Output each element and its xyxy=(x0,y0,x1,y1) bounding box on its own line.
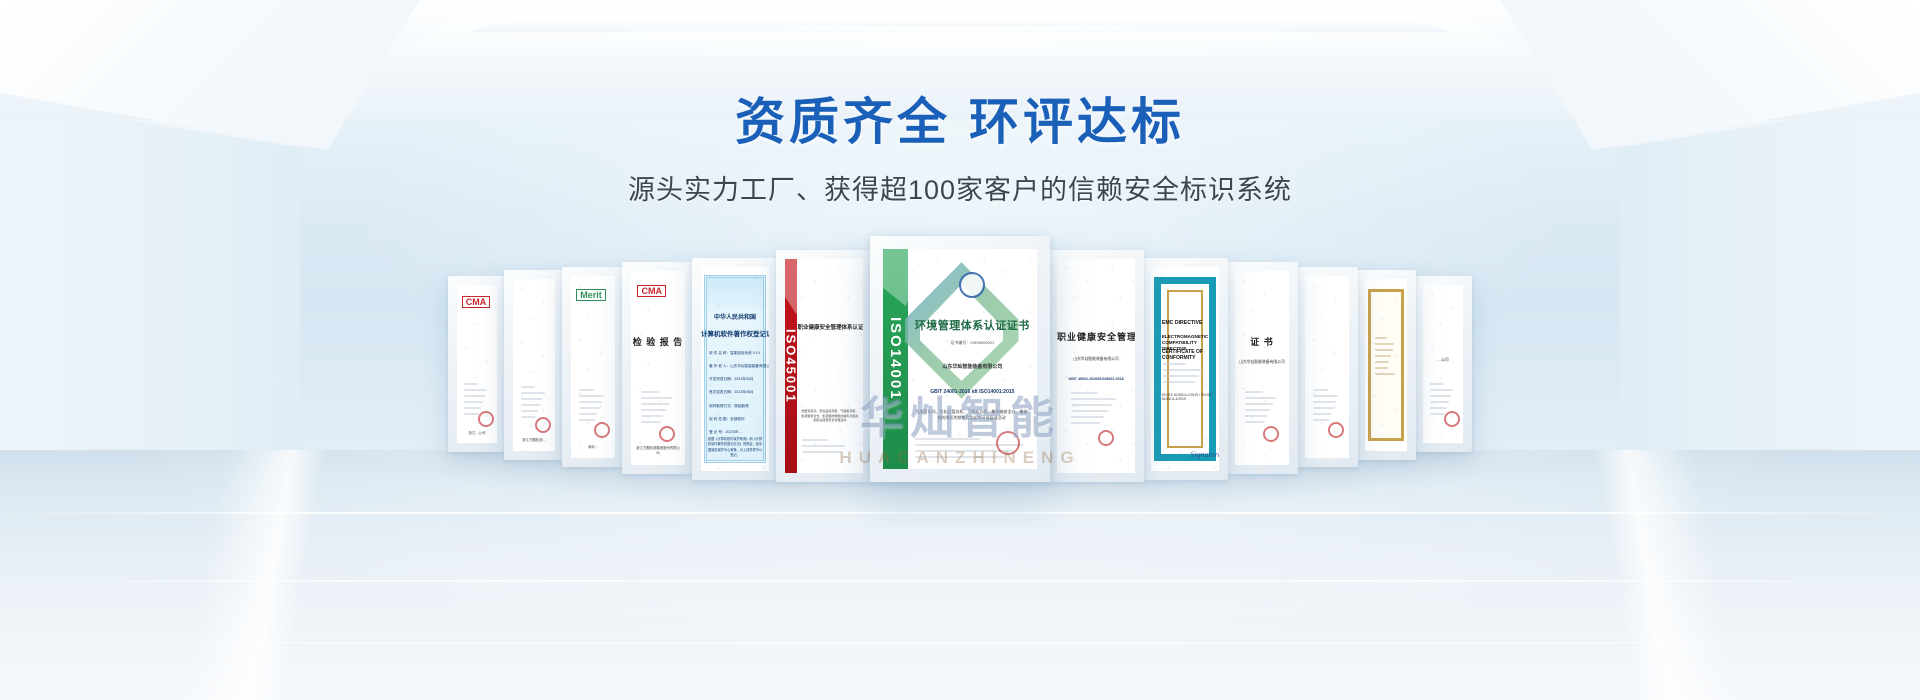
certificate-paper: 中华人民共和国计算机软件著作权登记证书软 件 名 称：智能巡检系统 V1.0著 … xyxy=(701,267,769,471)
certificate-content: ISO14001环境管理体系认证证书证书编号：00EM000001山东华灿智能装… xyxy=(883,249,1037,469)
certificate-content xyxy=(1365,279,1407,451)
certificate-content: CMA浙江…公司 xyxy=(457,285,497,443)
certificate-frame[interactable]: ISO45001职业健康安全管理体系认证证书危废暂存间、危化品暂存柜、气瓶柜存柜… xyxy=(776,250,872,482)
certificate-content: 中华人民共和国计算机软件著作权登记证书软 件 名 称：智能巡检系统 V1.0著 … xyxy=(701,267,769,471)
certificate-frame[interactable]: EMC DIRECTIVEELECTROMAGNETIC COMPATIBILI… xyxy=(1142,258,1228,480)
paper-watermark-pattern xyxy=(785,259,863,473)
paper-watermark-pattern xyxy=(1057,259,1135,473)
certificate-frame[interactable]: Merit深圳… xyxy=(562,267,624,467)
certificate-banner: 资质齐全 环评达标 源头实力工厂、获得超100家客户的信赖安全标识系统 CMA浙… xyxy=(0,0,1920,700)
certificate-frame[interactable]: CMA检 验 报 告浙江方圆检测集团股份有限公司 xyxy=(622,262,694,474)
certificate-content: CMA检 验 报 告浙江方圆检测集团股份有限公司 xyxy=(631,271,685,465)
paper-watermark-pattern xyxy=(1235,271,1289,465)
paper-watermark-pattern xyxy=(457,285,497,443)
certificate-frame[interactable] xyxy=(1296,267,1358,467)
paper-watermark-pattern xyxy=(1305,276,1349,458)
floor-reflection-left xyxy=(0,450,520,700)
certificate-content: 职业健康安全管理体系认证证书GB/T 45001-2020/ISO45001:2… xyxy=(1057,259,1135,473)
certificate-content: EMC DIRECTIVEELECTROMAGNETIC COMPATIBILI… xyxy=(1151,267,1219,471)
certificate-paper: Merit深圳… xyxy=(571,276,615,458)
banner-heading: 资质齐全 环评达标 源头实力工厂、获得超100家客户的信赖安全标识系统 xyxy=(0,92,1920,207)
paper-watermark-pattern xyxy=(883,249,1037,469)
page-subtitle: 源头实力工厂、获得超100家客户的信赖安全标识系统 xyxy=(0,168,1920,207)
certificate-paper: ISO14001环境管理体系认证证书证书编号：00EM000001山东华灿智能装… xyxy=(883,249,1037,469)
certificate-content xyxy=(1305,276,1349,458)
certificate-frame[interactable]: 浙江方圆检测… xyxy=(504,270,564,460)
paper-watermark-pattern xyxy=(513,279,555,451)
paper-watermark-pattern xyxy=(1151,267,1219,471)
paper-watermark-pattern xyxy=(1365,279,1407,451)
certificate-paper: CMA检 验 报 告浙江方圆检测集团股份有限公司 xyxy=(631,271,685,465)
certificate-wall: CMA浙江…公司浙江方圆检测…Merit深圳…CMA检 验 报 告浙江方圆检测集… xyxy=(310,232,1610,482)
ceiling-glow xyxy=(430,26,1490,60)
paper-watermark-pattern xyxy=(701,267,769,471)
certificate-frame[interactable] xyxy=(1356,270,1416,460)
certificate-paper: 职业健康安全管理体系认证证书GB/T 45001-2020/ISO45001:2… xyxy=(1057,259,1135,473)
certificate-frame[interactable]: 职业健康安全管理体系认证证书GB/T 45001-2020/ISO45001:2… xyxy=(1048,250,1144,482)
floor-reflection-right xyxy=(1400,450,1920,700)
page-title: 资质齐全 环评达标 xyxy=(0,92,1920,152)
certificate-frame[interactable]: 中华人民共和国计算机软件著作权登记证书软 件 名 称：智能巡检系统 V1.0著 … xyxy=(692,258,778,480)
certificate-frame[interactable]: 证 书山东华灿智能装备有限公司 xyxy=(1226,262,1298,474)
paper-watermark-pattern xyxy=(571,276,615,458)
certificate-paper xyxy=(1305,276,1349,458)
certificate-paper: 证 书山东华灿智能装备有限公司 xyxy=(1235,271,1289,465)
certificate-paper: CMA浙江…公司 xyxy=(457,285,497,443)
certificate-content: ISO45001职业健康安全管理体系认证证书危废暂存间、危化品暂存柜、气瓶柜存柜… xyxy=(785,259,863,473)
certificate-paper: 浙江方圆检测… xyxy=(513,279,555,451)
certificate-paper: …公司 xyxy=(1423,285,1463,443)
certificate-content: Merit深圳… xyxy=(571,276,615,458)
certificate-paper: ISO45001职业健康安全管理体系认证证书危废暂存间、危化品暂存柜、气瓶柜存柜… xyxy=(785,259,863,473)
certificate-frame[interactable]: ISO14001环境管理体系认证证书证书编号：00EM000001山东华灿智能装… xyxy=(870,236,1050,482)
certificate-content: …公司 xyxy=(1423,285,1463,443)
certificate-content: 证 书山东华灿智能装备有限公司 xyxy=(1235,271,1289,465)
certificate-frame[interactable]: …公司 xyxy=(1414,276,1472,452)
paper-watermark-pattern xyxy=(1423,285,1463,443)
paper-watermark-pattern xyxy=(631,271,685,465)
certificate-content: 浙江方圆检测… xyxy=(513,279,555,451)
certificate-paper xyxy=(1365,279,1407,451)
certificate-paper: EMC DIRECTIVEELECTROMAGNETIC COMPATIBILI… xyxy=(1151,267,1219,471)
certificate-frame[interactable]: CMA浙江…公司 xyxy=(448,276,506,452)
floor xyxy=(0,450,1920,700)
